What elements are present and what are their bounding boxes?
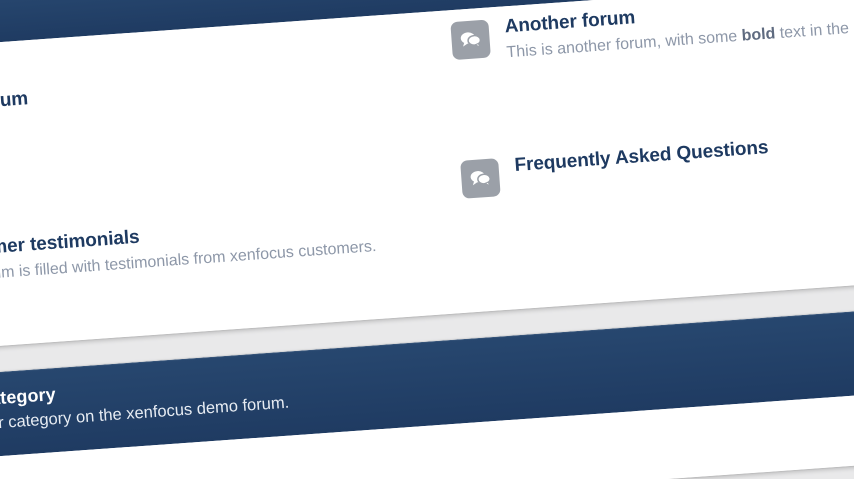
speech-bubbles-icon: [460, 158, 501, 199]
forum-column-left: Main forum Cu: [0, 38, 435, 319]
screenshot-stage: xenfocus Main category: [0, 0, 854, 479]
forum-body: Another forum This is another forum, wit…: [504, 0, 854, 65]
speech-bubbles-icon: [450, 19, 491, 60]
forum-body: Main forum: [0, 86, 29, 118]
forum-item-customer-testimonials[interactable]: Customer testimonials This forum is fill…: [0, 126, 435, 319]
tilted-page-wrapper: xenfocus Main category: [0, 0, 854, 479]
forum-title[interactable]: Frequently Asked Questions: [514, 136, 769, 178]
forum-title[interactable]: Main forum: [0, 87, 29, 118]
forum-card-main: xenfocus Main category: [0, 0, 854, 355]
forum-body: Customer testimonials This forum is fill…: [0, 208, 377, 290]
forum-description-bold: bold: [741, 26, 776, 45]
forum-body: Frequently Asked Questions: [514, 135, 769, 178]
forum-column-right: Another forum This is another forum, wit…: [449, 0, 854, 278]
forum-grid: Main forum Cu: [0, 0, 854, 355]
